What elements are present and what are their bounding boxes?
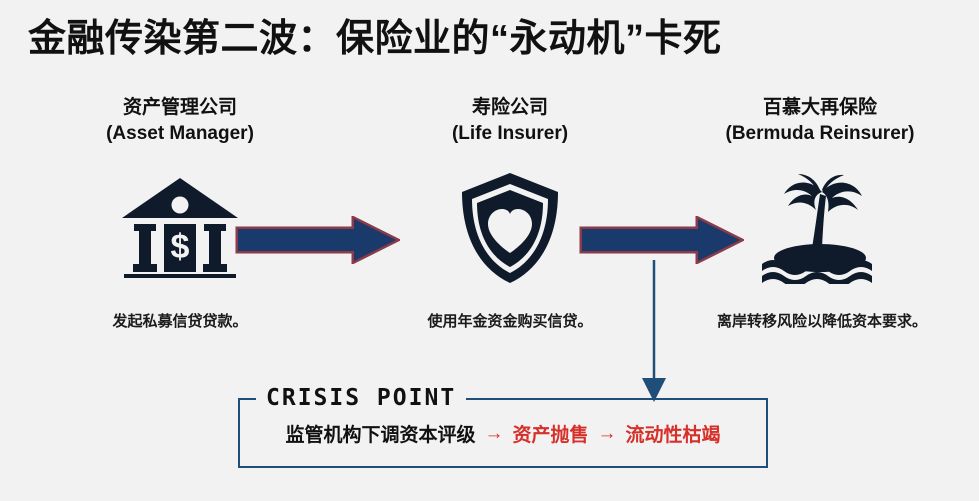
flow-step-bermuda-reinsurer-header: 百慕大再保险 (Bermuda Reinsurer)	[680, 96, 960, 146]
crisis-chain-separator-2: →	[598, 423, 617, 445]
crisis-chain-item-3: 流动性枯竭	[626, 420, 721, 447]
crisis-chain-item-2: 资产抛售	[512, 420, 588, 447]
step-title-cn-2: 寿险公司	[370, 96, 650, 121]
page-title: 金融传染第二波：保险业的“永动机”卡死	[28, 18, 722, 62]
flow-step-life-insurer-header: 寿险公司 (Life Insurer)	[370, 96, 650, 146]
step-title-en-1: (Asset Manager)	[40, 121, 320, 147]
step-title-cn-3: 百慕大再保险	[680, 96, 960, 121]
step-caption-3: 离岸转移风险以降低资本要求。	[672, 310, 972, 331]
step-title-cn-1: 资产管理公司	[40, 96, 320, 121]
infographic-canvas: 金融传染第二波：保险业的“永动机”卡死 资产管理公司 (Asset Manage…	[0, 0, 979, 501]
step-title-en-2: (Life Insurer)	[370, 121, 650, 147]
svg-text:$: $	[171, 228, 190, 266]
palm-island-icon	[680, 168, 960, 288]
crisis-point-legend: CRISIS POINT	[256, 385, 466, 411]
step-title-en-3: (Bermuda Reinsurer)	[680, 121, 960, 147]
crisis-chain-item-1: 监管机构下调资本评级	[285, 420, 475, 447]
step-caption-1: 发起私募信贷贷款。	[30, 310, 330, 331]
crisis-chain: 监管机构下调资本评级 → 资产抛售 → 流动性枯竭	[238, 420, 768, 447]
arrow-step3-to-crisis-icon	[630, 258, 678, 404]
step-caption-2: 使用年金资金购买信贷。	[360, 310, 660, 331]
flow-step-asset-manager-header: 资产管理公司 (Asset Manager)	[40, 96, 320, 146]
crisis-chain-separator-1: →	[484, 423, 503, 445]
